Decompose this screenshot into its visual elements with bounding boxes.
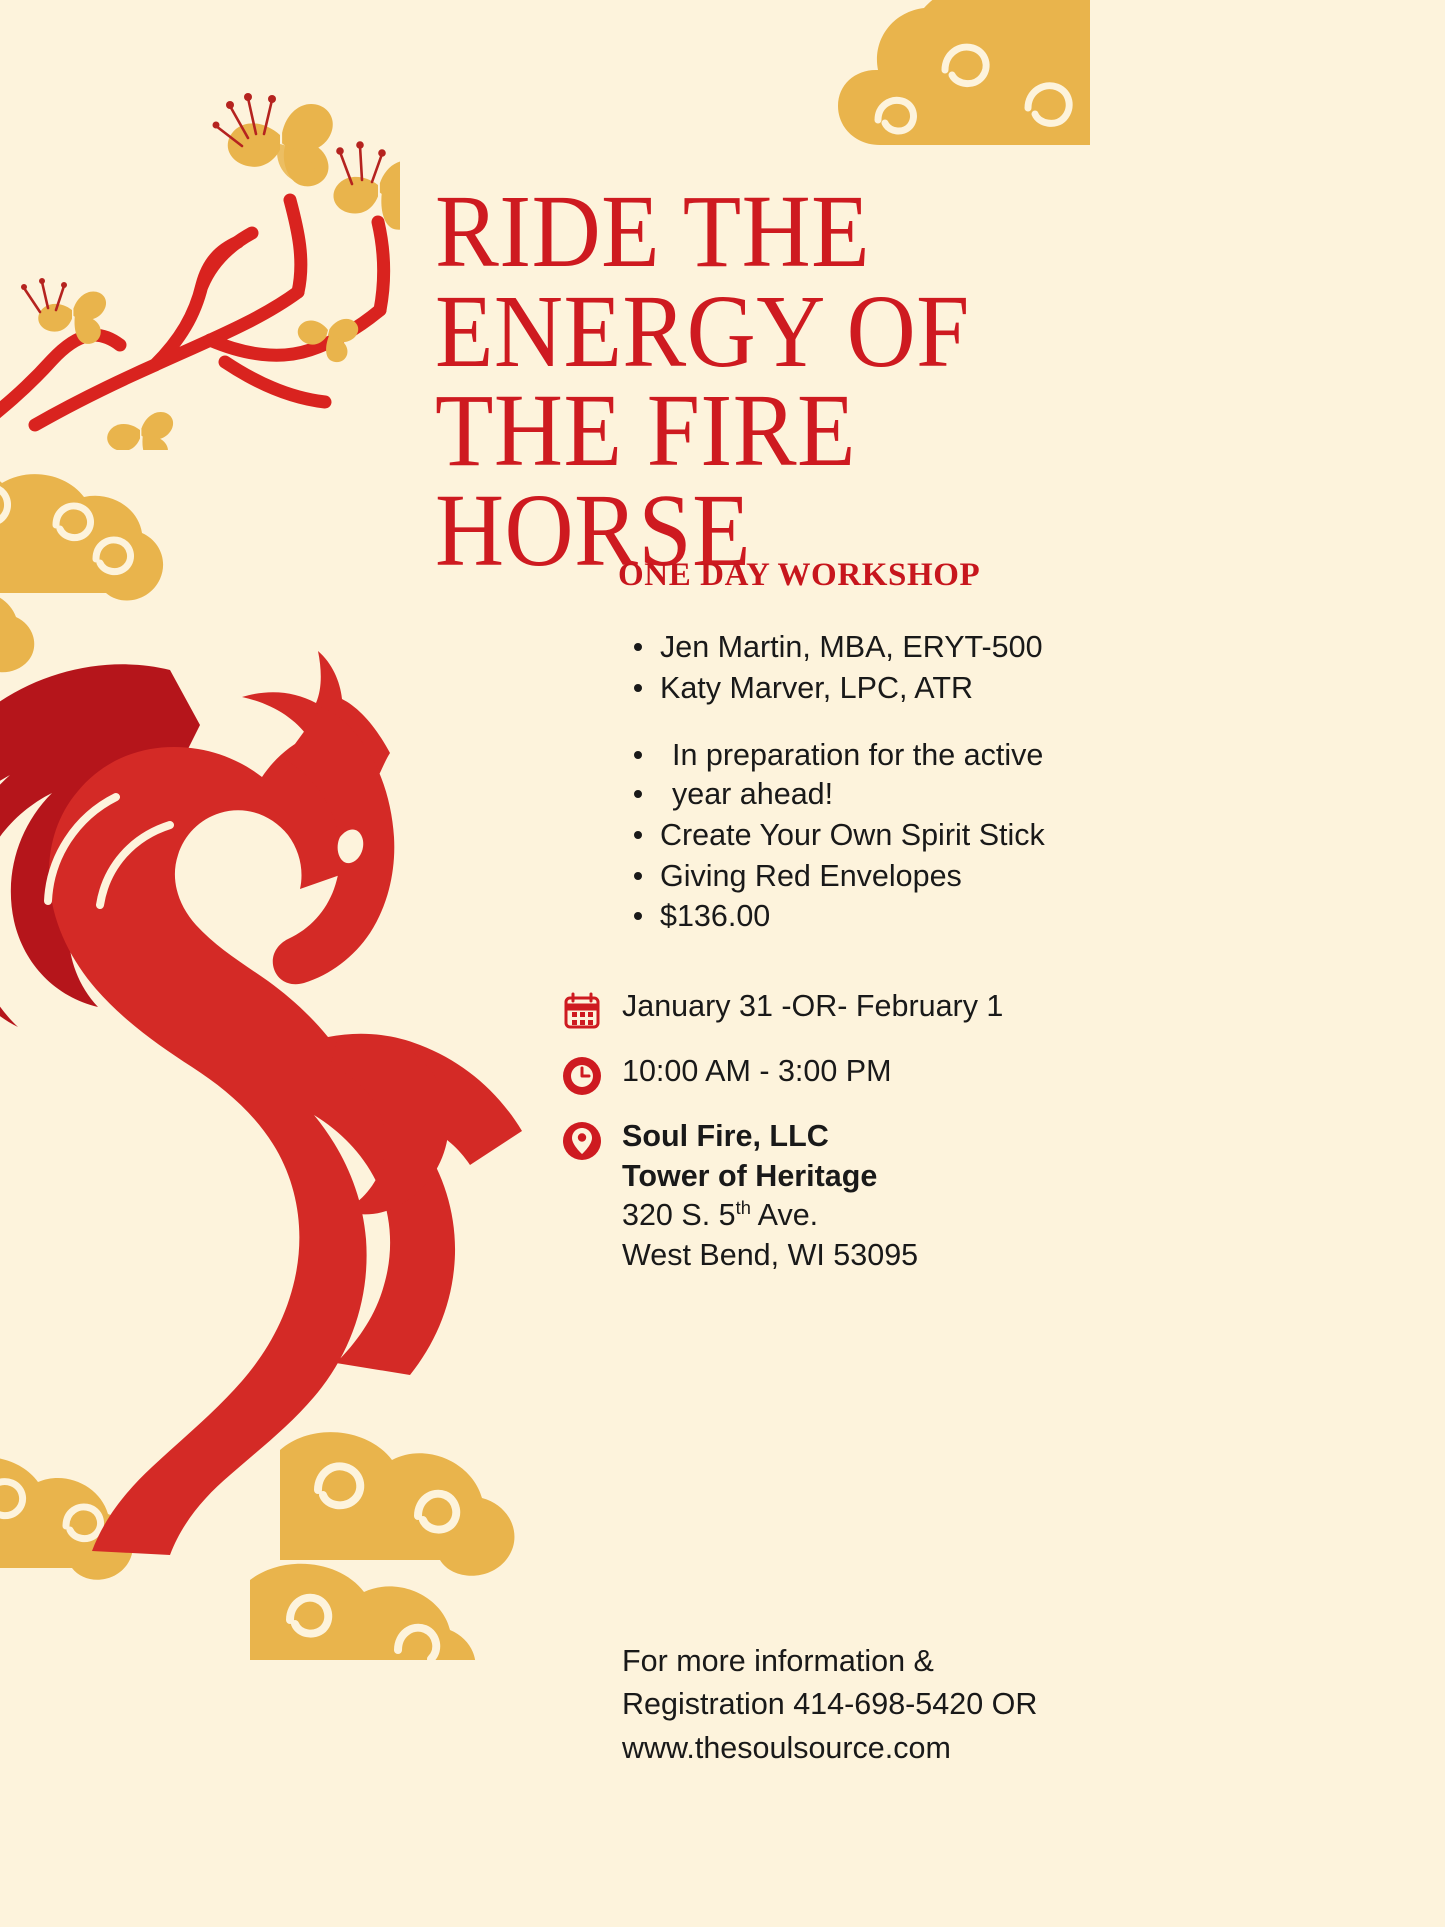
detail-row-location: Soul Fire, LLC Tower of Heritage 320 S. … (560, 1115, 1120, 1276)
venue-name: Soul Fire, LLC (622, 1117, 918, 1157)
street-ordinal: th (736, 1197, 751, 1218)
list-item: Giving Red Envelopes (630, 857, 1130, 896)
detail-time-text: 10:00 AM - 3:00 PM (622, 1050, 892, 1092)
venue-building: Tower of Heritage (622, 1157, 918, 1197)
calendar-icon (560, 989, 604, 1033)
title-line-1: RIDE THE (435, 182, 1061, 282)
list-item: Create Your Own Spirit Stick (630, 816, 1130, 855)
list-item: Jen Martin, MBA, ERYT-500 (630, 628, 1130, 667)
poster-content: RIDE THE ENERGY OF THE FIRE HORSE ONE DA… (430, 0, 1445, 1927)
detail-date-text: January 31 -OR- February 1 (622, 985, 1003, 1027)
contact-line-1: For more information & (622, 1640, 1122, 1683)
venue-city-state-zip: West Bend, WI 53095 (622, 1236, 918, 1276)
contact-info: For more information & Registration 414-… (622, 1640, 1122, 1770)
plum-blossom-branch-icon (0, 30, 400, 450)
venue-street: 320 S. 5th Ave. (622, 1196, 918, 1236)
detail-row-time: 10:00 AM - 3:00 PM (560, 1050, 1120, 1098)
list-item: In preparation for the active (630, 736, 1130, 775)
contact-line-2: Registration 414-698-5420 OR (622, 1683, 1122, 1726)
workshop-bullet-list: Jen Martin, MBA, ERYT-500 Katy Marver, L… (600, 628, 1130, 938)
event-details: January 31 -OR- February 1 10:00 AM - 3:… (560, 985, 1120, 1293)
list-item-price: $136.00 (630, 897, 1130, 936)
list-item-continuation: year ahead! (630, 775, 1130, 814)
contact-website: www.thesoulsource.com (622, 1727, 1122, 1770)
location-pin-icon (560, 1119, 604, 1163)
title-line-2: ENERGY OF (435, 282, 1061, 382)
detail-location-text: Soul Fire, LLC Tower of Heritage 320 S. … (622, 1115, 918, 1276)
poster-canvas: RIDE THE ENERGY OF THE FIRE HORSE ONE DA… (0, 0, 1445, 1927)
clock-icon (560, 1054, 604, 1098)
title-line-3: THE FIRE (435, 381, 1061, 481)
street-suffix: Ave. (751, 1198, 818, 1232)
cloud-icon-bottom-left (0, 1430, 240, 1650)
cloud-icon-mid-left (0, 455, 270, 685)
street-number: 320 S. 5 (622, 1198, 736, 1232)
list-item: Katy Marver, LPC, ATR (630, 669, 1130, 708)
detail-row-date: January 31 -OR- February 1 (560, 985, 1120, 1033)
subtitle: ONE DAY WORKSHOP (618, 557, 980, 594)
page-title: RIDE THE ENERGY OF THE FIRE HORSE (435, 182, 1061, 581)
